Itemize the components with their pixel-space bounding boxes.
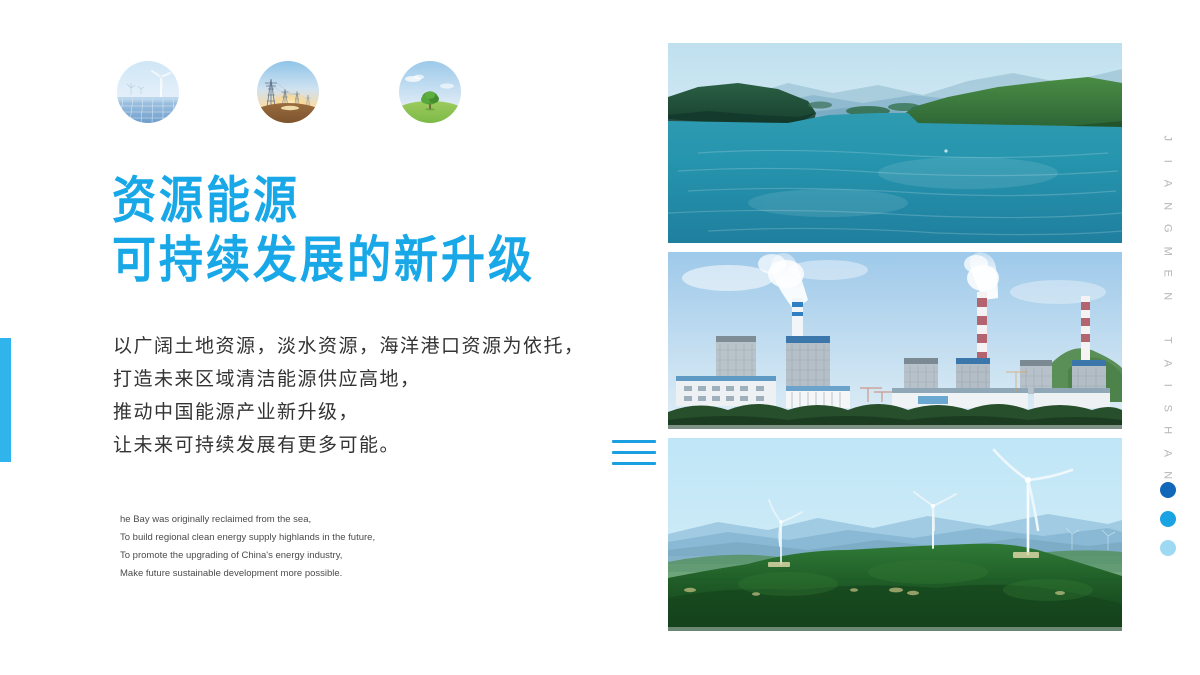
brand-char-7: N <box>1156 282 1179 312</box>
transmission-towers-sunset-thumbnail[interactable] <box>257 61 319 123</box>
body-cn-line-1: 以广阔土地资源，淡水资源，海洋港口资源为依托， <box>113 330 633 363</box>
body-en-line-3: To promote the upgrading of China's ener… <box>120 547 450 565</box>
wind-farm-photo[interactable] <box>668 438 1122 631</box>
vertical-brand-text: JIANGMENTAISHAN <box>1152 128 1182 488</box>
pager-dot-1[interactable] <box>1160 482 1176 498</box>
body-cn-line-2: 打造未来区域清洁能源供应高地， <box>113 363 633 396</box>
triple-bar-divider-icon <box>612 440 656 465</box>
reservoir-aerial-photo[interactable] <box>668 43 1122 243</box>
body-cn-line-4: 让未来可持续发展有更多可能。 <box>113 429 633 462</box>
page-title-line-1: 资源能源 <box>112 172 672 231</box>
divider-bar-2 <box>612 451 656 454</box>
thumbnail-row <box>117 61 537 125</box>
lone-tree-grassland-thumbnail[interactable] <box>399 61 461 123</box>
divider-bar-1 <box>612 440 656 443</box>
solar-panels-wind-turbine-thumbnail[interactable] <box>117 61 179 123</box>
left-accent-bar <box>0 338 11 462</box>
body-cn-line-3: 推动中国能源产业新升级， <box>113 396 633 429</box>
pager-dot-3[interactable] <box>1160 540 1176 556</box>
pager-dot-2[interactable] <box>1160 511 1176 527</box>
pager-dots <box>1160 482 1176 556</box>
body-en-line-4: Make future sustainable development more… <box>120 565 450 583</box>
page-title-line-2: 可持续发展的新升级 <box>112 231 672 290</box>
slide-canvas: 资源能源 可持续发展的新升级 以广阔土地资源，淡水资源，海洋港口资源为依托， 打… <box>0 0 1200 675</box>
body-en-line-1: he Bay was originally reclaimed from the… <box>120 511 450 529</box>
page-title: 资源能源 可持续发展的新升级 <box>112 172 672 291</box>
body-en-line-2: To build regional clean energy supply hi… <box>120 529 450 547</box>
divider-bar-3 <box>612 462 656 465</box>
body-paragraph-chinese: 以广阔土地资源，淡水资源，海洋港口资源为依托， 打造未来区域清洁能源供应高地， … <box>113 330 633 462</box>
body-paragraph-english: he Bay was originally reclaimed from the… <box>120 511 450 583</box>
power-plant-photo[interactable] <box>668 252 1122 429</box>
